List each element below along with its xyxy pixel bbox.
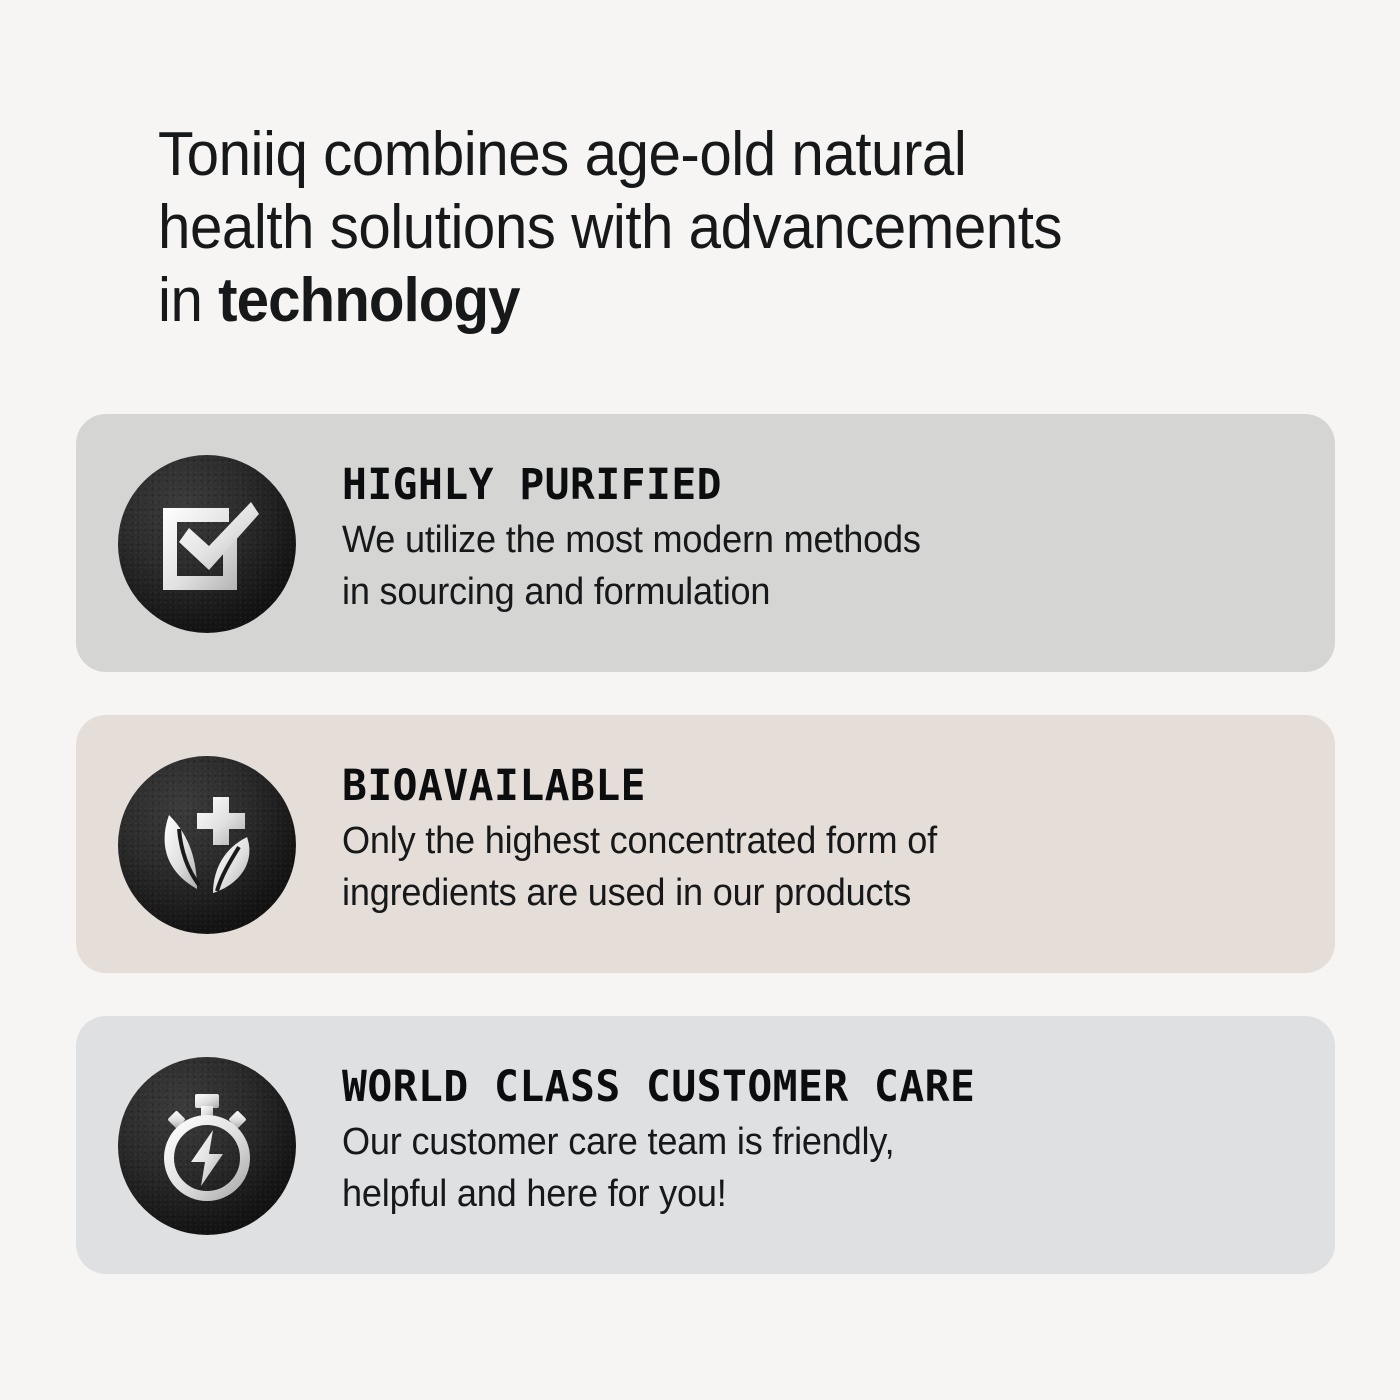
feature-description-line-1: We utilize the most modern methods: [342, 514, 1251, 566]
feature-description-line-2: helpful and here for you!: [342, 1168, 1251, 1220]
feature-icon-badge: [118, 1057, 296, 1235]
feature-description-line-1: Only the highest concentrated form of: [342, 815, 1251, 867]
headline-emphasis-technology: technology: [218, 266, 519, 335]
stopwatch-bolt-icon: [151, 1090, 263, 1202]
feature-card-text: WORLD CLASS CUSTOMER CARE Our customer c…: [342, 1062, 1299, 1220]
feature-title: WORLD CLASS CUSTOMER CARE: [342, 1062, 1261, 1112]
headline-line-3-prefix: in: [158, 266, 218, 335]
headline-line-2: health solutions with advancements: [158, 193, 1062, 262]
feature-card-world-class-customer-care: WORLD CLASS CUSTOMER CARE Our customer c…: [76, 1016, 1335, 1274]
feature-description-line-2: ingredients are used in our products: [342, 867, 1251, 919]
feature-description-line-2: in sourcing and formulation: [342, 566, 1251, 618]
feature-description: Only the highest concentrated form of in…: [342, 815, 1251, 919]
feature-card-text: BIOAVAILABLE Only the highest concentrat…: [342, 761, 1299, 919]
feature-icon-badge: [118, 756, 296, 934]
feature-description: Our customer care team is friendly, help…: [342, 1116, 1251, 1220]
feature-card-list: HIGHLY PURIFIED We utilize the most mode…: [76, 414, 1335, 1274]
infographic-page: Toniiq combines age-old natural health s…: [0, 0, 1400, 1400]
feature-card-highly-purified: HIGHLY PURIFIED We utilize the most mode…: [76, 414, 1335, 672]
headline-line-1: Toniiq combines age-old natural: [158, 120, 966, 189]
feature-card-text: HIGHLY PURIFIED We utilize the most mode…: [342, 460, 1299, 618]
feature-title: BIOAVAILABLE: [342, 761, 1261, 811]
feature-card-bioavailable: BIOAVAILABLE Only the highest concentrat…: [76, 715, 1335, 973]
leaves-plus-icon: [151, 789, 263, 901]
feature-icon-badge: [118, 455, 296, 633]
feature-description: We utilize the most modern methods in so…: [342, 514, 1251, 618]
checkbox-check-icon: [151, 488, 263, 600]
page-headline: Toniiq combines age-old natural health s…: [158, 118, 1211, 337]
feature-title: HIGHLY PURIFIED: [342, 460, 1261, 510]
feature-description-line-1: Our customer care team is friendly,: [342, 1116, 1251, 1168]
